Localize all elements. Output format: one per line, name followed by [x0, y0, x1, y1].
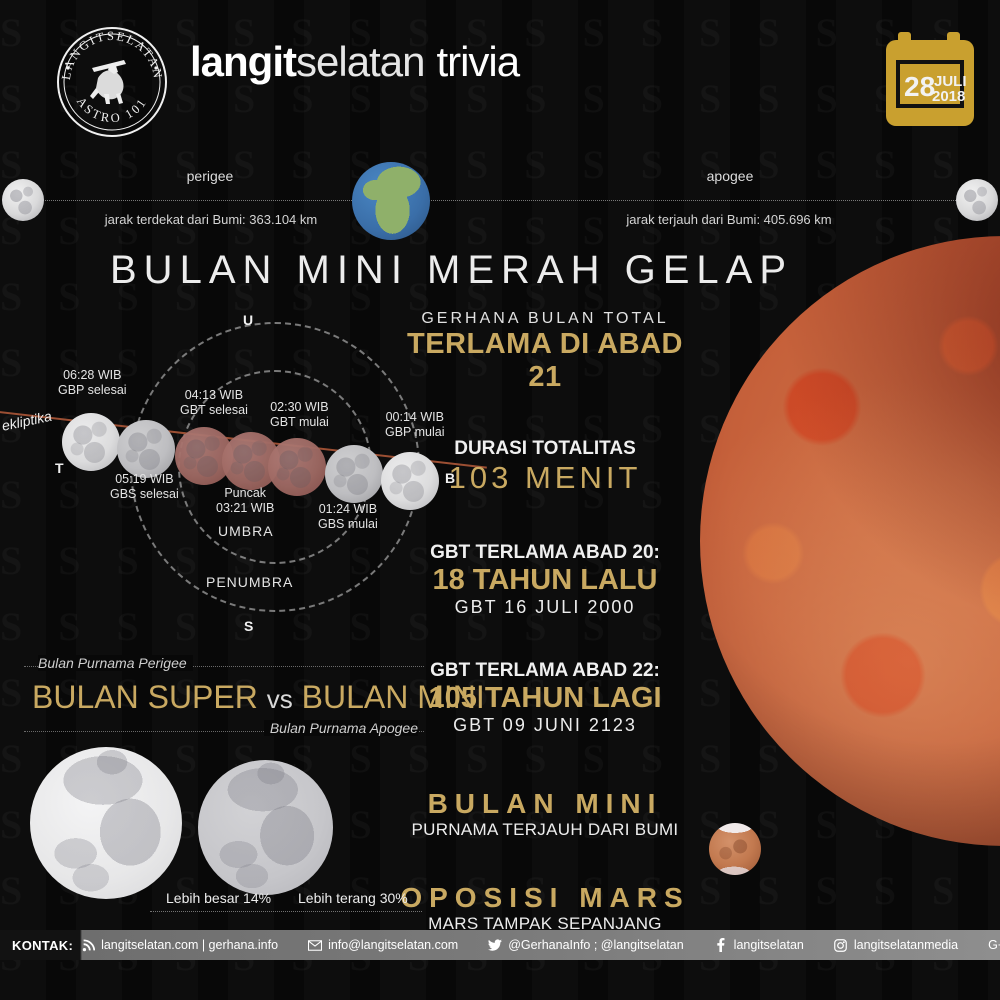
earth-icon: [352, 162, 430, 240]
instagram-icon: [834, 938, 848, 952]
phase-label-gbt-selesai: 04:13 WIB GBT selesai: [180, 388, 248, 418]
comparison-brightness-stat: Lebih terang 30%: [298, 890, 408, 906]
twitter-icon: [488, 938, 502, 952]
penumbra-label: PENUMBRA: [206, 575, 293, 590]
supermoon-illustration: [30, 747, 182, 899]
marker-north: U: [243, 312, 253, 328]
phase-time: 05:19 WIB: [110, 472, 179, 487]
duration-block: DURASI TOTALITAS 103 MENIT: [400, 438, 690, 496]
mars-opposition-title: OPOSISI MARS: [400, 882, 690, 914]
peak-label: Puncak: [216, 486, 274, 501]
micromoon-block: BULAN MINI PURNAMA TERJAUH DARI BUMI: [400, 788, 690, 840]
phase-label-gbt-mulai: 02:30 WIB GBT mulai: [270, 400, 329, 430]
micromoon-subtitle: PURNAMA TERJAUH DARI BUMI: [400, 820, 690, 840]
calendar-icon: 28 JULI 2018: [884, 30, 976, 130]
century20-detail: GBT 16 JULI 2000: [400, 597, 690, 618]
phase-event: GBS selesai: [110, 487, 179, 502]
apogee-moon-icon: [956, 179, 998, 221]
orbit-distance-row: perigee apogee jarak terdekat dari Bumi:…: [0, 160, 1000, 260]
header: LANGITSELATAN ASTRO 101 langitselatan: [0, 0, 1000, 150]
orbit-axis-line: [18, 200, 982, 201]
apogee-label: apogee: [630, 168, 830, 184]
facebook-icon: [714, 938, 728, 952]
phase-event: GBT mulai: [270, 415, 329, 430]
googleplus-icon-text: G+LangitselatanMedia: [988, 938, 1000, 952]
eclipse-moon-phase-2: [117, 420, 175, 478]
supermoon-vs-micromoon-header: Bulan Purnama Perigee BULAN SUPER vs BUL…: [24, 655, 424, 742]
perigee-fullmoon-caption: Bulan Purnama Perigee: [38, 655, 193, 671]
logo-svg: LANGITSELATAN ASTRO 101: [52, 22, 172, 142]
contact-instagram-text: langitselatanmedia: [854, 938, 958, 952]
contact-website-text: langitselatan.com | gerhana.info: [101, 938, 278, 952]
perigee-distance: jarak terdekat dari Bumi: 363.104 km: [96, 212, 326, 227]
contact-email[interactable]: info@langitselatan.com: [308, 938, 458, 952]
phase-time: 02:30 WIB: [270, 400, 329, 415]
comparison-title-mini: BULAN MINI: [302, 679, 485, 715]
contact-email-text: info@langitselatan.com: [328, 938, 458, 952]
langitselatan-logo: LANGITSELATAN ASTRO 101: [52, 22, 172, 142]
micromoon-illustration: [198, 760, 333, 895]
brand-selatan: selatan: [296, 38, 424, 85]
calendar-day: 28: [904, 71, 935, 102]
contact-instagram[interactable]: langitselatanmedia: [834, 938, 958, 952]
marker-west: T: [55, 460, 64, 476]
comparison-size-stat: Lebih besar 14%: [166, 890, 271, 906]
perigee-moon-icon: [2, 179, 44, 221]
eclipse-moon-phase-1: [62, 413, 120, 471]
umbra-label: UMBRA: [218, 524, 274, 539]
calendar-svg: 28 JULI 2018: [884, 30, 976, 130]
century20-value: 18 TAHUN LALU: [400, 564, 690, 597]
brand-title: langitselatantrivia: [190, 38, 519, 86]
apogee-caption-row: Bulan Purnama Apogee: [24, 718, 424, 742]
apogee-distance: jarak terjauh dari Bumi: 405.696 km: [614, 212, 844, 227]
contact-facebook-text: langitselatan: [734, 938, 804, 952]
comparison-dotted-rule: [150, 911, 422, 912]
eclipse-kicker: GERHANA BULAN TOTAL: [400, 310, 690, 328]
eclipse-facts-column: GERHANA BULAN TOTAL TERLAMA DI ABAD 21 D…: [400, 310, 690, 954]
phase-label-peak: Puncak 03:21 WIB: [216, 486, 274, 516]
century20-block: GBT TERLAMA ABAD 20: 18 TAHUN LALU GBT 1…: [400, 542, 690, 618]
eclipse-headline: TERLAMA DI ABAD 21: [400, 328, 690, 394]
phase-label-gbs-mulai: 01:24 WIB GBS mulai: [318, 502, 378, 532]
comparison-title-vs: vs: [267, 684, 293, 714]
comparison-title-super: BULAN SUPER: [32, 679, 258, 715]
perigee-label: perigee: [110, 168, 310, 184]
phase-time: 01:24 WIB: [318, 502, 378, 517]
contact-website[interactable]: langitselatan.com | gerhana.info: [81, 938, 278, 952]
duration-label: DURASI TOTALITAS: [400, 438, 690, 460]
mars-planet-icon: [709, 823, 761, 875]
contact-twitter[interactable]: @GerhanaInfo ; @langitselatan: [488, 938, 683, 952]
duration-value: 103 MENIT: [400, 460, 690, 496]
contact-twitter-text: @GerhanaInfo ; @langitselatan: [508, 938, 683, 952]
phase-event: GBS mulai: [318, 517, 378, 532]
phase-event: GBP selesai: [58, 383, 127, 398]
phase-time: 04:13 WIB: [180, 388, 248, 403]
contact-facebook[interactable]: langitselatan: [714, 938, 804, 952]
brand-langit: langit: [190, 38, 296, 85]
contact-footer: KONTAK: langitselatan.com | gerhana.info…: [0, 930, 1000, 960]
apogee-fullmoon-caption: Bulan Purnama Apogee: [264, 720, 418, 736]
contact-items: langitselatan.com | gerhana.info info@la…: [73, 938, 1000, 952]
rss-icon: [81, 938, 95, 952]
contact-label: KONTAK:: [0, 938, 73, 953]
phase-time: 06:28 WIB: [58, 368, 127, 383]
comparison-title: BULAN SUPER vs BULAN MINI: [32, 679, 424, 716]
eclipse-moon-phase-6: [325, 445, 383, 503]
century22-detail: GBT 09 JUNI 2123: [400, 715, 690, 736]
contact-googleplus[interactable]: G+LangitselatanMedia: [988, 938, 1000, 952]
marker-south: S: [244, 618, 253, 634]
peak-time: 03:21 WIB: [216, 501, 274, 516]
micromoon-title: BULAN MINI: [400, 788, 690, 820]
phase-label-gbs-selesai: 05:19 WIB GBS selesai: [110, 472, 179, 502]
calendar-year: 2018: [932, 88, 965, 105]
eclipse-moon-phase-5: [268, 438, 326, 496]
perigee-caption-row: Bulan Purnama Perigee: [24, 655, 424, 677]
page-title: BULAN MINI MERAH GELAP: [110, 248, 793, 293]
phase-event: GBT selesai: [180, 403, 248, 418]
brand-trivia: trivia: [436, 38, 519, 85]
phase-label-gbp-selesai: 06:28 WIB GBP selesai: [58, 368, 127, 398]
envelope-icon: [308, 938, 322, 952]
century20-label: GBT TERLAMA ABAD 20:: [400, 542, 690, 564]
